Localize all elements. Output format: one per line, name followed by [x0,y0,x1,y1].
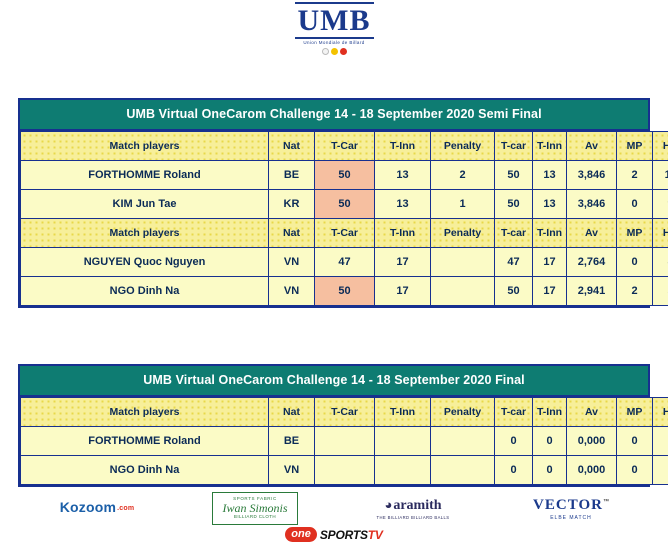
cell-tcar: 50 [315,190,375,219]
cell-player: KIM Jun Tae [21,190,269,219]
semifinal-table: Match players Nat T-Car T-Inn Penalty T-… [20,131,668,306]
cell-tinn: 17 [375,248,431,277]
sponsor-onesportstv: one SPORTS TV [0,527,668,542]
umb-logo: UMB Union Mondiale de Billard [0,6,668,55]
cell-penalty [431,427,495,456]
cell-av: 3,846 [567,161,617,190]
cell-mp: 0 [617,190,653,219]
col-nat: Nat [269,132,315,161]
cell-mp: 0 [617,456,653,485]
cell-penalty [431,248,495,277]
cell-av: 2,764 [567,248,617,277]
cell-tinn-total: 17 [533,277,567,306]
cell-tinn-total: 13 [533,190,567,219]
vector-tagline: ELBE MATCH [492,515,650,521]
table-header-row: Match players Nat T-Car T-Inn Penalty T-… [21,132,668,161]
col-mp: MP [617,398,653,427]
semifinal-table-block: UMB Virtual OneCarom Challenge 14 - 18 S… [18,98,650,308]
cell-penalty [431,277,495,306]
col-av: Av [567,398,617,427]
col-tcar: T-Car [315,219,375,248]
col-av: Av [567,219,617,248]
table-row: FORTHOMME Roland BE 0 0 0,000 0 [21,427,668,456]
cell-hr: 5 [653,277,668,306]
cell-mp: 2 [617,277,653,306]
sponsor-vector: VECTOR™ ELBE MATCH [492,496,650,521]
cell-tcar-total: 0 [495,427,533,456]
cell-player: FORTHOMME Roland [21,427,269,456]
aramith-tagline: THE BILLIARD BILLIARD BALLS [334,515,492,520]
semifinal-title: UMB Virtual OneCarom Challenge 14 - 18 S… [20,100,648,131]
kozoom-suffix: .com [117,505,134,512]
col-tinn-total: T-Inn [533,398,567,427]
cell-hr: 8 [653,248,668,277]
cell-tcar-total: 50 [495,161,533,190]
col-tinn-total: T-Inn [533,132,567,161]
final-title: UMB Virtual OneCarom Challenge 14 - 18 S… [20,366,648,397]
cell-penalty [431,456,495,485]
col-hr: HR [653,219,668,248]
table-row: FORTHOMME Roland BE 50 13 2 50 13 3,846 … [21,161,668,190]
col-penalty: Penalty [431,219,495,248]
cell-penalty: 1 [431,190,495,219]
onesportstv-sports: SPORTS [320,528,368,542]
cell-nat: VN [269,248,315,277]
cell-player: NGO Dinh Na [21,456,269,485]
billiard-balls-icon [322,48,347,55]
col-tinn: T-Inn [375,219,431,248]
simonis-name: Iwan Simonis [222,504,287,512]
cell-tcar-total: 47 [495,248,533,277]
cell-hr [653,456,668,485]
cell-tinn [375,456,431,485]
cell-penalty: 2 [431,161,495,190]
sponsor-bar: Kozoom.com SPORTS FABRIC Iwan Simonis BI… [18,494,650,522]
cell-tinn [375,427,431,456]
col-av: Av [567,132,617,161]
col-penalty: Penalty [431,132,495,161]
cell-hr: 9 [653,190,668,219]
cell-mp: 0 [617,248,653,277]
umb-logo-mark: UMB [298,6,371,36]
red-ball-icon [340,48,347,55]
cell-player: NGO Dinh Na [21,277,269,306]
umb-logo-text: UMB [298,4,371,37]
cell-nat: KR [269,190,315,219]
cell-player: FORTHOMME Roland [21,161,269,190]
cell-nat: BE [269,427,315,456]
col-hr: HR [653,132,668,161]
col-match-players: Match players [21,219,269,248]
table-row: KIM Jun Tae KR 50 13 1 50 13 3,846 0 9 [21,190,668,219]
cell-av: 2,941 [567,277,617,306]
col-tcar: T-Car [315,398,375,427]
cell-tinn-total: 17 [533,248,567,277]
kozoom-name: Kozoom [60,499,116,515]
table-row: NGO Dinh Na VN 0 0 0,000 0 [21,456,668,485]
cell-tcar [315,456,375,485]
cell-tinn: 17 [375,277,431,306]
col-nat: Nat [269,398,315,427]
cell-av: 3,846 [567,190,617,219]
col-tcar-total: T-car [495,219,533,248]
cell-av: 0,000 [567,427,617,456]
col-tcar-total: T-car [495,398,533,427]
aramith-name: aramith [393,498,441,513]
col-tinn: T-Inn [375,398,431,427]
white-ball-icon [322,48,329,55]
cell-nat: VN [269,456,315,485]
sponsor-kozoom: Kozoom.com [18,499,176,517]
umb-logo-subtitle: Union Mondiale de Billard [303,40,364,45]
col-penalty: Penalty [431,398,495,427]
col-hr: HR [653,398,668,427]
col-tinn: T-Inn [375,132,431,161]
onesportstv-tv: TV [368,528,383,542]
cell-tinn: 13 [375,190,431,219]
cell-tcar-total: 50 [495,277,533,306]
cell-tcar-total: 0 [495,456,533,485]
cell-player: NGUYEN Quoc Nguyen [21,248,269,277]
cell-tinn-total: 0 [533,427,567,456]
col-tinn-total: T-Inn [533,219,567,248]
cell-nat: VN [269,277,315,306]
table-header-row: Match players Nat T-Car T-Inn Penalty T-… [21,398,668,427]
cell-av: 0,000 [567,456,617,485]
cell-hr: 11 [653,161,668,190]
cell-tcar: 50 [315,161,375,190]
yellow-ball-icon [331,48,338,55]
col-mp: MP [617,132,653,161]
final-table: Match players Nat T-Car T-Inn Penalty T-… [20,397,668,485]
col-tcar-total: T-car [495,132,533,161]
vector-tm: ™ [603,499,609,505]
cell-nat: BE [269,161,315,190]
cell-tcar [315,427,375,456]
cell-tcar-total: 50 [495,190,533,219]
col-mp: MP [617,219,653,248]
col-match-players: Match players [21,398,269,427]
final-table-block: UMB Virtual OneCarom Challenge 14 - 18 S… [18,364,650,487]
page-root: UMB Union Mondiale de Billard UMB Virtua… [0,0,668,557]
cell-mp: 0 [617,427,653,456]
sponsor-simonis: SPORTS FABRIC Iwan Simonis BILLIARD CLOT… [176,492,334,525]
table-row: NGO Dinh Na VN 50 17 50 17 2,941 2 5 [21,277,668,306]
sponsor-aramith: ◕aramith THE BILLIARD BILLIARD BALLS [334,496,492,520]
cell-tcar: 50 [315,277,375,306]
cell-tinn-total: 0 [533,456,567,485]
col-tcar: T-Car [315,132,375,161]
aramith-swirl-icon: ◕ [384,497,392,512]
col-match-players: Match players [21,132,269,161]
cell-tcar: 47 [315,248,375,277]
table-row: NGUYEN Quoc Nguyen VN 47 17 47 17 2,764 … [21,248,668,277]
cell-mp: 2 [617,161,653,190]
cell-hr [653,427,668,456]
vector-name: VECTOR [533,497,603,513]
cell-tinn: 13 [375,161,431,190]
onesportstv-one: one [285,527,317,542]
col-nat: Nat [269,219,315,248]
cell-tinn-total: 13 [533,161,567,190]
table-header-row: Match players Nat T-Car T-Inn Penalty T-… [21,219,668,248]
